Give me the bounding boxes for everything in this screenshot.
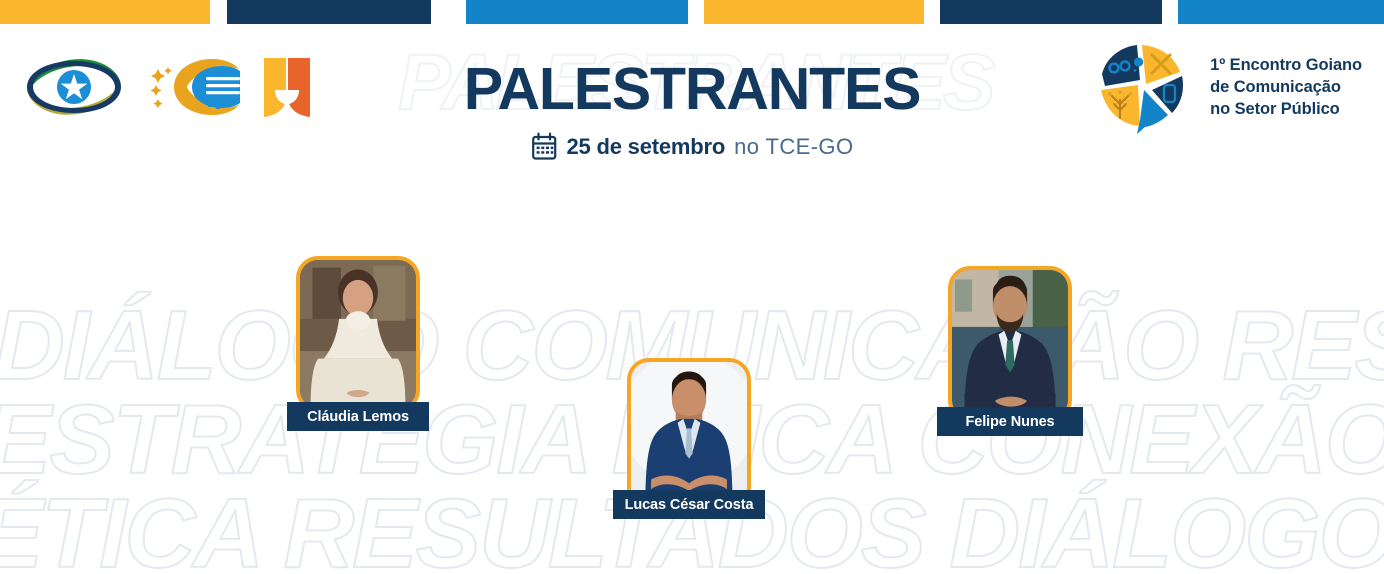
- stripe-yellow-2: [704, 0, 924, 24]
- speakers-grid: Cláudia Lemos Lucas César Costa: [0, 0, 1384, 574]
- speaker-name: Cláudia Lemos: [307, 409, 409, 425]
- stripe-yellow-1: [0, 0, 210, 24]
- speaker-name-bar: Lucas César Costa: [613, 490, 765, 519]
- stripe-blue-2: [1178, 0, 1384, 24]
- portrait-felipe-nunes: [952, 270, 1068, 418]
- top-color-bar: [0, 0, 1384, 24]
- portrait-lucas-cesar-costa: [631, 362, 747, 510]
- speaker-photo-frame: [948, 266, 1072, 422]
- speaker-name: Felipe Nunes: [965, 414, 1054, 430]
- stripe-navy-1: [227, 0, 431, 24]
- stripe-navy-2: [940, 0, 1162, 24]
- speaker-name: Lucas César Costa: [625, 497, 754, 513]
- speaker-name-bar: Cláudia Lemos: [287, 402, 429, 431]
- speaker-photo-frame: [296, 256, 420, 412]
- portrait-claudia-lemos: [300, 260, 416, 408]
- speaker-name-bar: Felipe Nunes: [937, 407, 1083, 436]
- stripe-blue-1: [466, 0, 688, 24]
